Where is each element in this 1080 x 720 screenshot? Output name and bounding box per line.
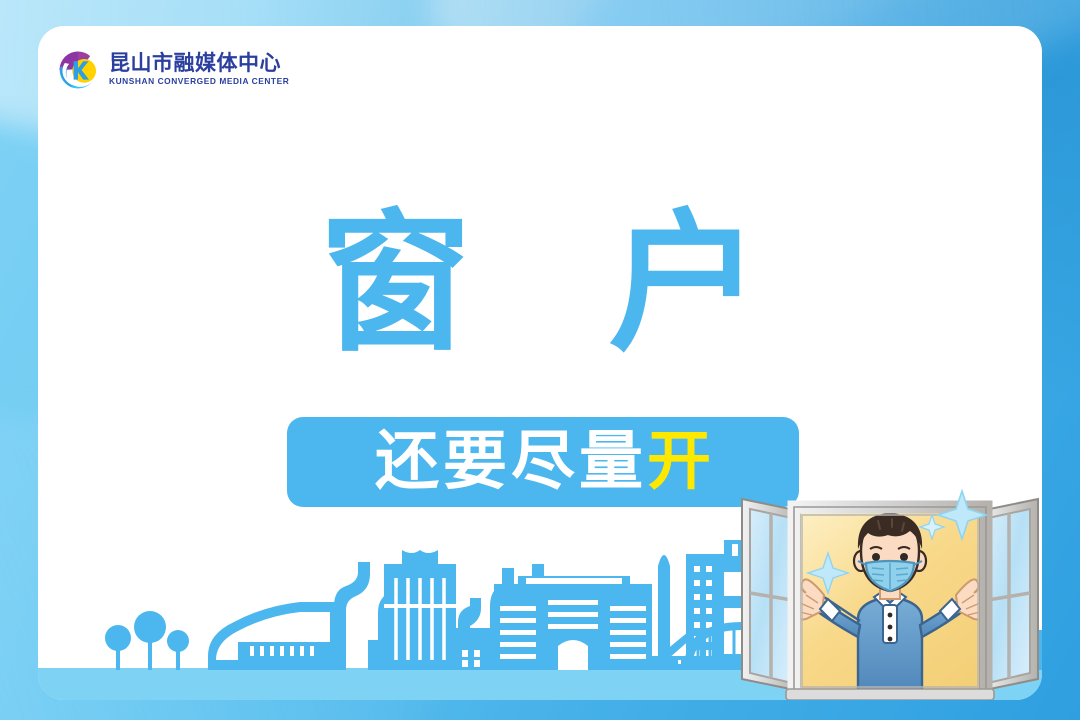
brand-name-cn: 昆山市融媒体中心 [109, 53, 286, 74]
subtitle-highlight-part: 开 [647, 425, 715, 499]
poster-canvas: 昆山市融媒体中心 KUNSHAN CONVERGED MEDIA CENTER … [0, 0, 1080, 720]
open-window-with-masked-boy-illustration [732, 469, 1042, 700]
subtitle-text: 还要尽量开 [371, 430, 715, 494]
kunshan-media-circle-logo-icon [56, 48, 100, 92]
content-card: 昆山市融媒体中心 KUNSHAN CONVERGED MEDIA CENTER … [38, 26, 1042, 700]
subtitle-white-part: 还要尽量 [375, 425, 647, 499]
brand-logo[interactable]: 昆山市融媒体中心 KUNSHAN CONVERGED MEDIA CENTER [56, 48, 286, 92]
brand-logo-text: 昆山市融媒体中心 KUNSHAN CONVERGED MEDIA CENTER [109, 53, 286, 86]
page-title: 窗 户 [38, 208, 1042, 360]
brand-name-en: KUNSHAN CONVERGED MEDIA CENTER [109, 78, 289, 86]
subtitle-banner: 还要尽量开 [287, 417, 799, 507]
